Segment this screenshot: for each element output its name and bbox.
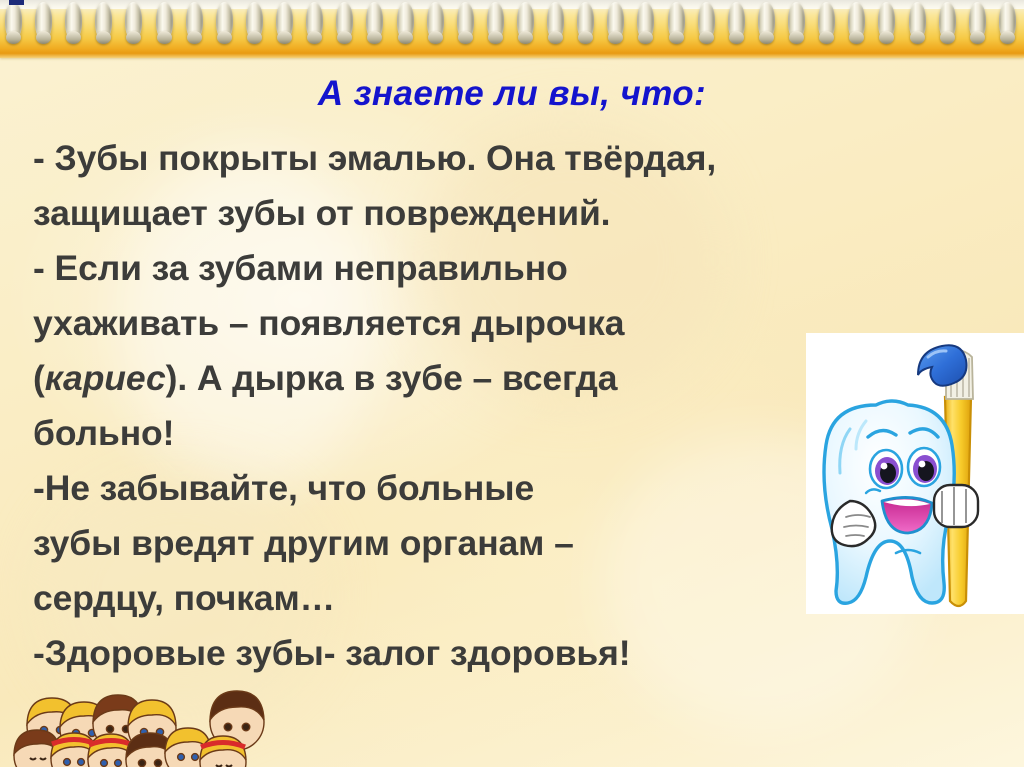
text-line: защищает зубы от повреждений. [33,186,833,241]
text-line: сердцу, почкам… [33,571,833,626]
smiling-tooth-with-toothbrush-image [806,333,1024,614]
binding-ring [668,2,685,41]
binding-ring [306,2,323,41]
binding-ring [5,2,22,41]
binding-ring [969,2,986,41]
binding-ring [848,2,865,41]
spiral-binding-icon [0,0,1024,58]
binding-ring [999,2,1016,41]
binding-ring [397,2,414,41]
binding-ring [818,2,835,41]
body-text-block: - Зубы покрыты эмалью. Она твёрдая, защи… [33,131,833,681]
binding-ring [95,2,112,41]
binding-ring [457,2,474,41]
group-of-children-heads-image [12,686,284,767]
tooth-right-hand [934,485,978,527]
binding-ring [246,2,263,41]
paren-open: ( [33,358,45,398]
text-after-caries: ). А дырка в зубе – всегда [166,358,618,398]
binding-ring [216,2,233,41]
binding-ring [125,2,142,41]
children-heads-icon [12,686,284,767]
binding-ring [637,2,654,41]
binding-ring [698,2,715,41]
binding-top-strip [0,0,1024,9]
tooth-mascot-icon [806,333,1024,614]
text-line: -Не забывайте, что больные [33,461,833,516]
binding-ring [939,2,956,41]
binding-ring [607,2,624,41]
text-line: - Зубы покрыты эмалью. Она твёрдая, [33,131,833,186]
binding-ring [336,2,353,41]
text-line: ухаживать – появляется дырочка [33,296,833,351]
binding-ring [577,2,594,41]
binding-ring [547,2,564,41]
text-line-caries: (кариес). А дырка в зубе – всегда [33,351,833,406]
binding-ring [35,2,52,41]
page-title: А знаете ли вы, что: [0,74,1024,114]
binding-ring [186,2,203,41]
binding-ring [366,2,383,41]
binding-ring [878,2,895,41]
text-line: -Здоровые зубы- залог здоровья! [33,626,833,681]
binding-ring [156,2,173,41]
text-line: - Если за зубами неправильно [33,241,833,296]
binding-ring [909,2,926,41]
corner-marker [9,0,24,5]
binding-ring [788,2,805,41]
binding-ring [276,2,293,41]
text-line: больно! [33,406,833,461]
slide-canvas: А знаете ли вы, что: - Зубы покрыты эмал… [0,0,1024,767]
term-caries: кариес [45,358,166,398]
binding-ring [427,2,444,41]
binding-ring [65,2,82,41]
binding-ring [728,2,745,41]
binding-ring [487,2,504,41]
binding-ring [517,2,534,41]
binding-ring [758,2,775,41]
text-line: зубы вредят другим органам – [33,516,833,571]
